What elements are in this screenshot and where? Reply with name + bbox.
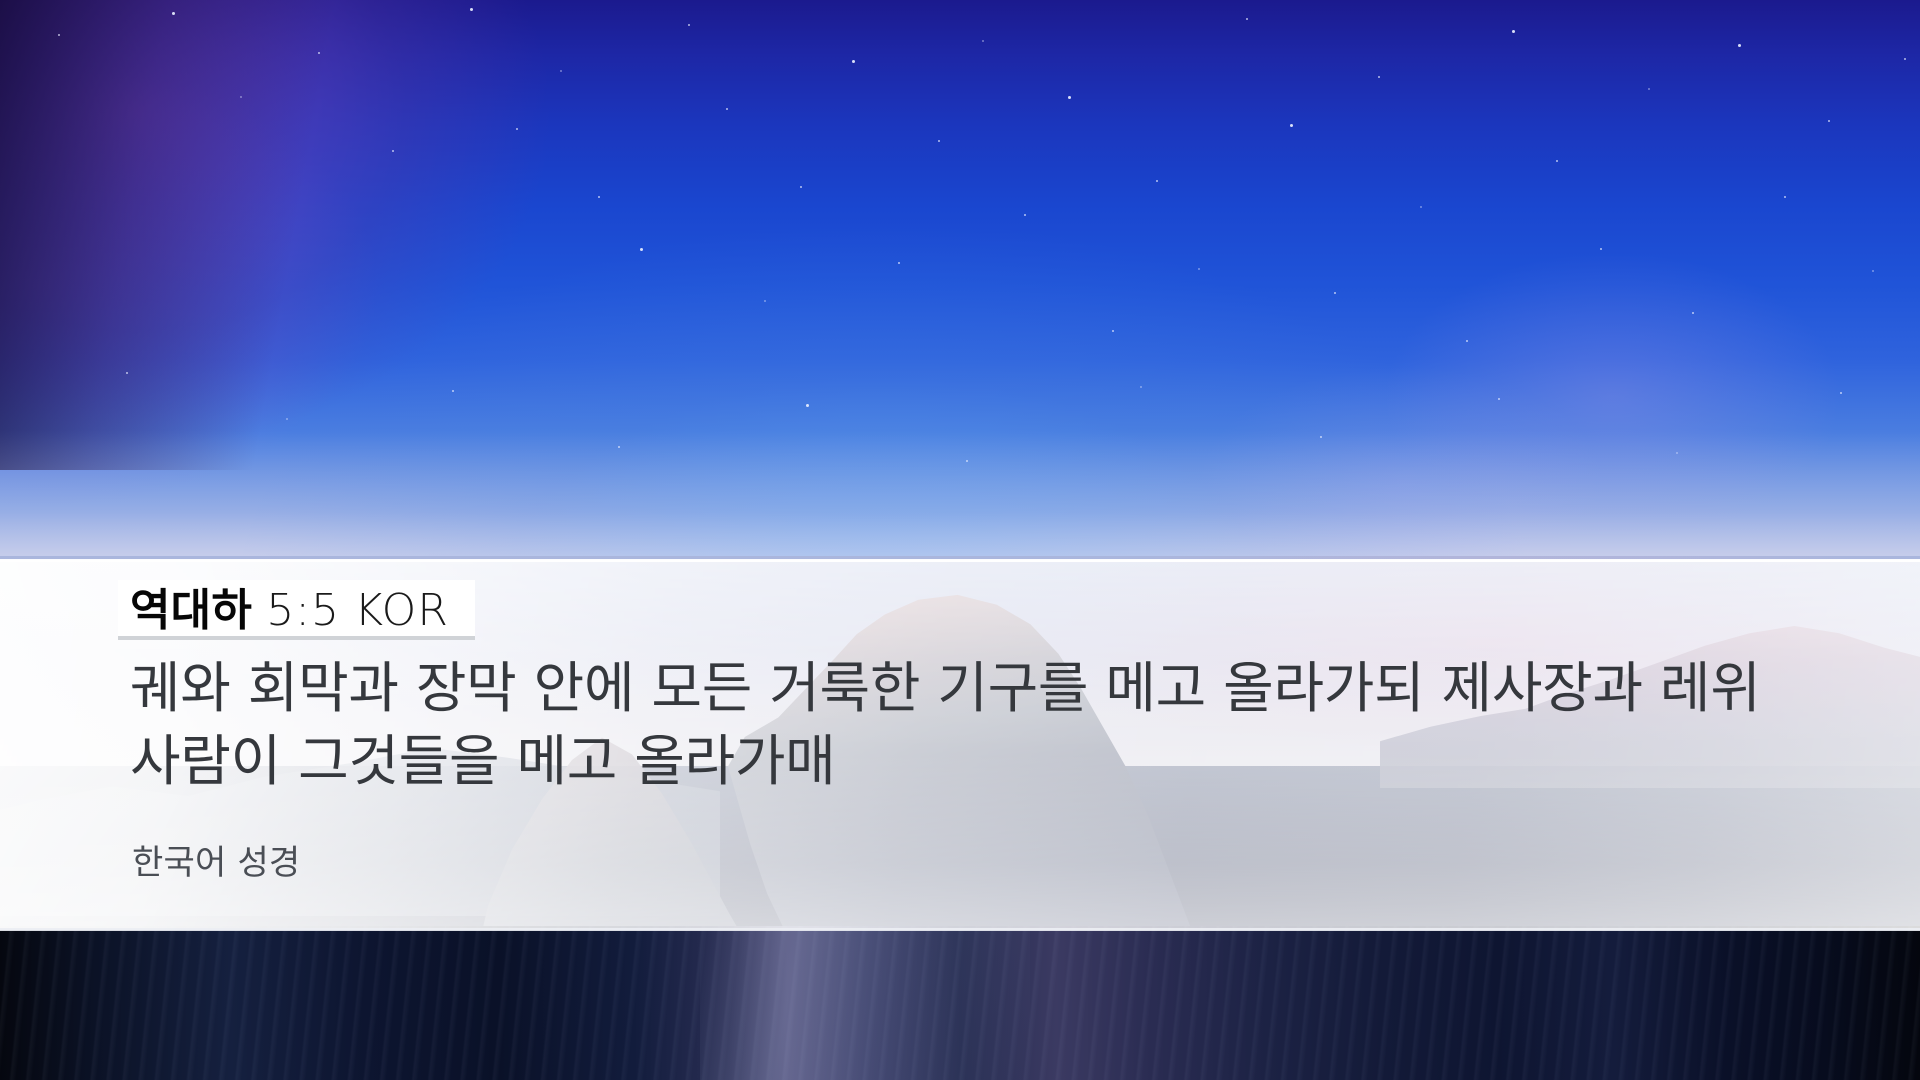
scripture-reference: 역대하 5:5 KOR bbox=[130, 588, 449, 634]
reference-location: 5:5 bbox=[266, 585, 340, 636]
bible-version-label: 한국어 성경 bbox=[132, 835, 300, 884]
reference-translation: KOR bbox=[354, 585, 449, 636]
cliff-light-streak bbox=[700, 926, 1030, 1080]
reference-book: 역대하 bbox=[130, 585, 252, 636]
reference-underline bbox=[118, 636, 475, 640]
verse-content: 역대하 5:5 KOR 궤와 회막과 장막 안에 모든 거룩한 기구를 메고 올… bbox=[0, 560, 1920, 930]
verse-body-text: 궤와 회막과 장막 안에 모든 거룩한 기구를 메고 올라가되 제사장과 레위 … bbox=[130, 652, 1830, 797]
verse-slide: 역대하 5:5 KOR 궤와 회막과 장막 안에 모든 거룩한 기구를 메고 올… bbox=[0, 0, 1920, 1080]
reference-text: 역대하 5:5 KOR bbox=[130, 588, 449, 634]
